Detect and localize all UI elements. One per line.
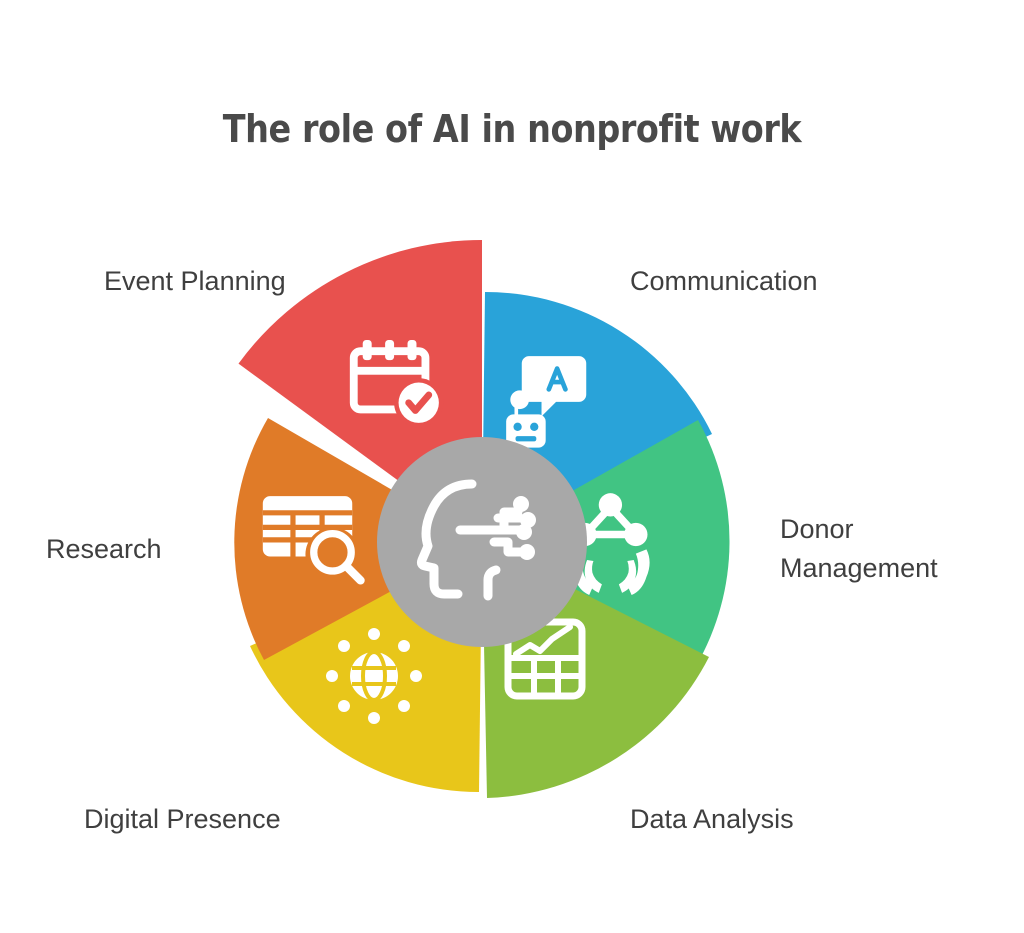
- wheel-svg: [172, 222, 792, 862]
- center-hub[interactable]: [377, 437, 587, 647]
- ai-role-wheel-diagram: [172, 222, 792, 862]
- page-title: The role of AI in nonprofit work: [61, 107, 962, 151]
- hub-circle: [377, 437, 587, 647]
- segment-label-research: Research: [46, 530, 246, 569]
- segment-label-donor-management: Donor Management: [780, 510, 1010, 588]
- segment-label-communication: Communication: [630, 262, 930, 301]
- segment-label-digital-presence: Digital Presence: [84, 800, 384, 839]
- segment-label-data-analysis: Data Analysis: [630, 800, 930, 839]
- segment-label-event-planning: Event Planning: [104, 262, 354, 301]
